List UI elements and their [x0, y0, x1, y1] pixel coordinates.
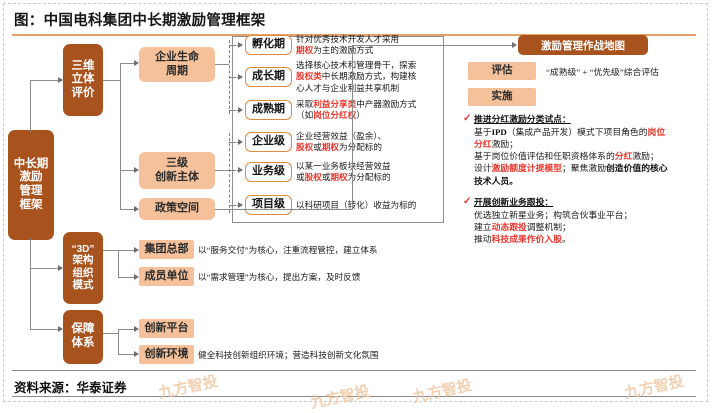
source-rule-top — [12, 370, 696, 371]
root-down-trunk — [30, 238, 31, 330]
branch-3d-architecture: “3D” 架构 组织 模式 — [63, 232, 103, 304]
3d-out — [103, 250, 119, 251]
item-1-body: 优选独立新星业务；构筑合伙事业平台； 建立动态跟投调整机制； 推动科技成果作价入… — [474, 209, 706, 245]
root-node: 中长期 激励 管理 框架 — [8, 130, 54, 240]
arch-row-headquarters-desc: 以“服务交付”为核心，注重流程管控，建立体系 — [198, 245, 448, 256]
page-title: 图：中国电科集团中长期激励管理框架 — [14, 9, 266, 30]
3d-fan-v — [118, 250, 119, 278]
arch-row-member-unit-desc: 以“需求管理”为核心，提出方案，及时反馈 — [198, 272, 448, 283]
item-1-heading: 开展创新业务跟投： — [474, 196, 704, 208]
check-icon-item-0: ✓ — [463, 113, 471, 124]
node-innovation-subject: 三级 创新主体 — [139, 152, 215, 189]
lifecycle-line-0: 企业生命 — [155, 51, 199, 64]
branch-3dim-line-2: 评价 — [72, 87, 95, 101]
arrow-to-battle-map — [512, 42, 517, 48]
policy-out — [215, 209, 353, 210]
3d-to-member — [119, 277, 135, 278]
innovation-line-1: 创新主体 — [155, 171, 199, 184]
3dim-to-policy — [121, 209, 135, 210]
source-rule-bottom — [12, 396, 696, 397]
root-line-3: 框架 — [20, 199, 43, 213]
innovation-dash-bus — [229, 133, 230, 213]
battle-map-title: 激励管理作战地图 — [518, 35, 648, 55]
3dim-out — [103, 80, 121, 81]
level-business-desc: 以某一业务板块经营效益或股权或期权为分配标的 — [296, 161, 442, 184]
branch-guarantee-line-0: 保障 — [72, 323, 95, 337]
arrow-stage-1 — [238, 74, 243, 80]
guarantee-to-platform — [119, 329, 135, 330]
stage-mature-desc: 采取利益分享类中产器激励方式（如岗位分红权） — [296, 99, 442, 122]
guarantee-row-environment-desc: 健全科技创新组织环境；营造科技创新文化氛围 — [198, 350, 448, 361]
3d-to-hq — [119, 250, 135, 251]
branch-3dim-line-0: 三维 — [72, 60, 95, 74]
branch-guarantee-line-1: 体系 — [72, 337, 95, 351]
arrow-stage-0 — [238, 42, 243, 48]
stage-growth-desc: 选择核心技术和管理骨干，探索股权类中长期激励方式，构建核心人才与企业利益共享机制 — [296, 60, 442, 94]
3dim-to-innovation — [121, 170, 135, 171]
arch-row-member-unit: 成员单位 — [139, 267, 194, 286]
branch-3d-line-0: “3D” — [72, 244, 95, 256]
arrow-level-1 — [238, 167, 243, 173]
guarantee-out — [103, 333, 119, 334]
node-policy-space: 政策空间 — [139, 198, 215, 220]
root-to-3d — [31, 268, 59, 269]
branch-3dim-line-1: 立体 — [72, 73, 95, 87]
level-enterprise-desc: 企业经营效益（盈余）、股权或期权为分配标的 — [296, 131, 442, 154]
evaluate-text: “成熟级” + “优先级”综合评估 — [546, 66, 706, 78]
stage-incubation: 孵化期 — [245, 35, 292, 55]
root-line-1: 激励 — [20, 171, 43, 185]
root-line-2: 管理 — [20, 185, 43, 199]
arch-row-headquarters: 集团总部 — [139, 240, 194, 259]
branch-3d-line-2: 组织 — [73, 268, 94, 280]
level-project: 项目级 — [245, 195, 292, 215]
guarantee-row-platform: 创新平台 — [139, 319, 194, 338]
root-trunk-up — [30, 80, 31, 132]
arrow-stage-2 — [238, 107, 243, 113]
arrow-level-2 — [238, 202, 243, 208]
level-enterprise: 企业级 — [245, 132, 292, 152]
check-icon-item-1: ✓ — [463, 196, 471, 207]
arrow-level-0 — [238, 139, 243, 145]
branch-3d-line-3: 模式 — [73, 280, 94, 292]
item-0-heading: 推进分红激励分类试点： — [474, 113, 704, 125]
branch-3d-line-1: 架构 — [73, 255, 94, 267]
3dim-to-lifecycle — [121, 63, 135, 64]
branch-guarantee-system: 保障 体系 — [63, 310, 103, 364]
guarantee-row-environment: 创新环境 — [139, 345, 194, 364]
node-lifecycle: 企业生命 周期 — [139, 47, 215, 82]
3dim-fan-v — [120, 63, 121, 210]
root-to-guarantee — [31, 329, 59, 330]
lifecycle-line-1: 周期 — [166, 65, 188, 78]
evaluate-label: 评估 — [468, 62, 536, 80]
item-0-body: 基于IPD（集成产品开发）模式下项目角色的岗位 分红激励； 基于岗位价值评估和任… — [474, 126, 706, 187]
stage-mature: 成熟期 — [245, 100, 292, 120]
branch-three-dimension: 三维 立体 评价 — [63, 44, 103, 116]
guarantee-fan-v — [118, 329, 119, 355]
stage-growth: 成长期 — [245, 67, 292, 87]
root-line-0: 中长期 — [14, 158, 49, 172]
policy-to-map-v — [352, 45, 353, 210]
policy-to-map-h — [353, 45, 513, 46]
source-text: 资料来源：华泰证券 — [14, 377, 127, 396]
lifecycle-out — [215, 64, 229, 65]
implement-label: 实施 — [468, 88, 536, 106]
line-to-3dim — [31, 80, 59, 81]
level-business: 业务级 — [245, 162, 292, 182]
guarantee-to-environment — [119, 354, 135, 355]
innovation-out — [215, 170, 229, 171]
innovation-line-0: 三级 — [166, 157, 188, 170]
